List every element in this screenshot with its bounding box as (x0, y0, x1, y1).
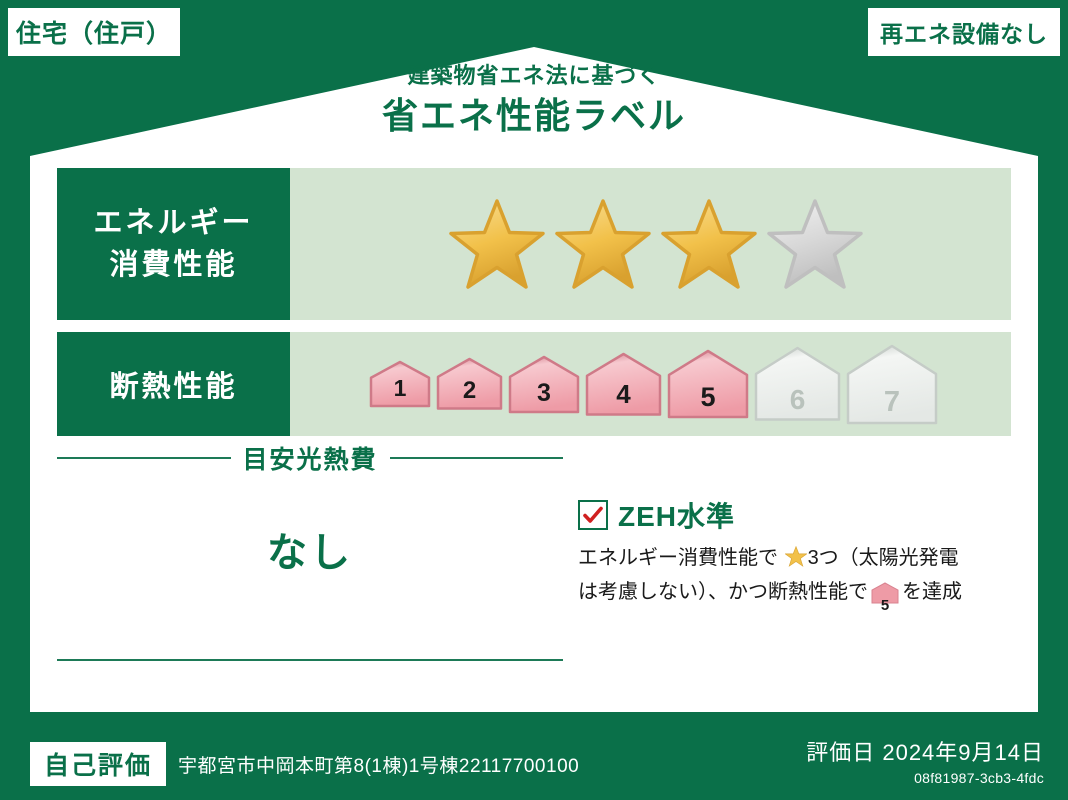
property-address: 宇都宮市中岡本町第8(1棟)1号棟22117700100 (178, 751, 579, 778)
self-evaluation-badge: 自己評価 (30, 742, 166, 786)
insulation-grade-number: 3 (508, 379, 580, 408)
zeh-desc-part-3: を達成 (902, 581, 962, 603)
zeh-desc-part-1: エネルギー消費性能で (578, 547, 778, 569)
insulation-grade-scale: 1234567 (290, 332, 1011, 436)
star-icon-filled (553, 196, 653, 292)
zeh-desc-part-2: は考慮しない）、かつ断熱性能で (578, 581, 868, 603)
building-type-tag: 住宅（住戸） (8, 8, 180, 56)
checkmark-icon (578, 500, 608, 530)
star-icon-filled (659, 196, 759, 292)
energy-performance-label-cell: エネルギー 消費性能 (57, 168, 290, 320)
star-icon-inline (779, 550, 807, 572)
utility-cost-heading-text: 目安光熱費 (243, 440, 378, 476)
insulation-grade-number: 7 (846, 386, 938, 419)
footer-left: 自己評価 宇都宮市中岡本町第8(1棟)1号棟22117700100 (30, 742, 579, 786)
insulation-grade-number: 5 (667, 382, 749, 413)
star-icon-empty (765, 196, 865, 292)
house-grade-icon-1: 1 (369, 360, 431, 408)
energy-label-line-1: エネルギー (93, 202, 253, 244)
house-grade-icon-5: 5 (667, 349, 749, 419)
insulation-grade-number: 1 (369, 375, 431, 402)
footer-right: 評価日 2024年9月14日 08f81987-3cb3-4fdc (806, 735, 1044, 786)
energy-performance-label: 住宅（住戸） 再エネ設備なし 建築物省エネ法に基づく 省エネ性能ラベル エネルギ… (0, 0, 1068, 800)
house-grade-icon-6: 6 (754, 346, 841, 422)
heading-rule-left (57, 457, 231, 459)
evaluation-id: 08f81987-3cb3-4fdc (806, 770, 1044, 786)
zeh-heading: ZEH水準 (578, 495, 1018, 535)
house-grade-icon-2: 2 (436, 357, 503, 411)
energy-label-line-2: 消費性能 (109, 244, 237, 286)
energy-performance-row: エネルギー 消費性能 (57, 168, 1011, 320)
insulation-performance-label-cell: 断熱性能 (57, 332, 290, 436)
insulation-grade-number: 2 (436, 377, 503, 405)
zeh-title: ZEH水準 (618, 495, 735, 535)
label-title: 省エネ性能ラベル (0, 92, 1068, 141)
utility-cost-bottom-rule (57, 659, 563, 661)
insulation-grade-number: 4 (585, 379, 662, 410)
energy-star-rating (290, 168, 1011, 320)
zeh-description: エネルギー消費性能で 3つ（太陽光発電 は考慮しない）、かつ断熱性能で 5を達成 (578, 543, 1018, 614)
house-grade-icon-inline: 5 (871, 582, 899, 614)
label-subtitle: 建築物省エネ法に基づく (0, 62, 1068, 90)
utility-cost-value: なし (57, 520, 563, 578)
house-grade-number-inline: 5 (871, 598, 899, 613)
evaluation-date: 評価日 2024年9月14日 (806, 735, 1044, 767)
zeh-desc-star-count: 3つ（太陽光発電 (808, 547, 959, 569)
star-icon-filled (447, 196, 547, 292)
utility-cost-heading: 目安光熱費 (57, 440, 563, 476)
heading-rule-right (390, 457, 564, 459)
zeh-standard-block: ZEH水準 エネルギー消費性能で 3つ（太陽光発電 は考慮しない）、かつ断熱性能… (578, 495, 1018, 614)
house-grade-icon-3: 3 (508, 355, 580, 414)
house-grade-icon-4: 4 (585, 352, 662, 417)
insulation-performance-row: 断熱性能 1234567 (57, 332, 1011, 436)
label-title-block: 建築物省エネ法に基づく 省エネ性能ラベル (0, 62, 1068, 140)
house-grade-icon-7: 7 (846, 344, 938, 425)
renewable-equipment-tag: 再エネ設備なし (868, 8, 1060, 56)
insulation-grade-number: 6 (754, 384, 841, 416)
